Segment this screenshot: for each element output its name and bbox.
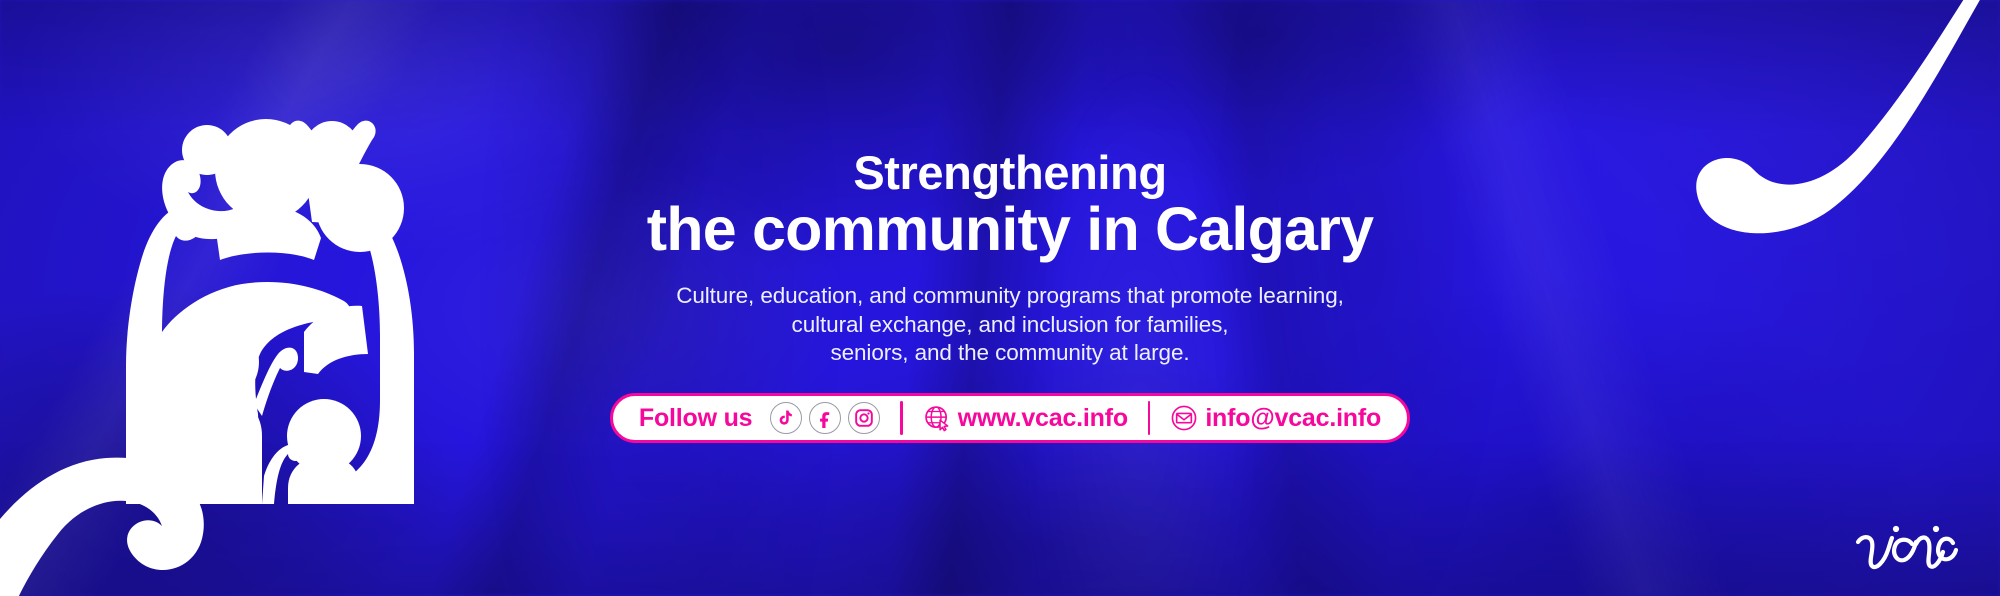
- instagram-glyph: [854, 408, 874, 428]
- headline-line-2: the community in Calgary: [560, 200, 1460, 260]
- headline-line-1: Strengthening: [560, 150, 1460, 196]
- email-link[interactable]: info@vcac.info: [1170, 404, 1381, 433]
- subtitle-line-2: cultural exchange, and inclusion for fam…: [560, 311, 1460, 340]
- website-link[interactable]: www.vcac.info: [923, 404, 1128, 433]
- globe-glyph: [923, 404, 951, 432]
- social-icons-group: [770, 402, 880, 434]
- facebook-glyph: [815, 408, 835, 428]
- facebook-icon[interactable]: [809, 402, 841, 434]
- globe-icon: [923, 404, 951, 432]
- envelope-icon: [1170, 404, 1198, 432]
- envelope-glyph: [1170, 404, 1198, 432]
- white-curved-swoosh-icon: [1650, 0, 2000, 288]
- banner-content: Strengthening the community in Calgary C…: [560, 150, 1460, 443]
- promotional-banner: Strengthening the community in Calgary C…: [0, 0, 2000, 596]
- divider-1: [900, 401, 902, 435]
- instagram-icon[interactable]: [848, 402, 880, 434]
- divider-2: [1148, 401, 1150, 435]
- website-label: www.vcac.info: [958, 404, 1128, 433]
- vcac-wordmark-icon: [1850, 516, 1958, 578]
- follow-us-label: Follow us: [639, 404, 752, 433]
- subtitle: Culture, education, and community progra…: [560, 282, 1460, 368]
- tiktok-glyph: [776, 408, 796, 428]
- community-people-logo-icon: [66, 104, 446, 504]
- email-label: info@vcac.info: [1205, 404, 1381, 433]
- page-title: Strengthening the community in Calgary: [560, 150, 1460, 260]
- subtitle-line-3: seniors, and the community at large.: [560, 339, 1460, 368]
- subtitle-line-1: Culture, education, and community progra…: [560, 282, 1460, 311]
- tiktok-icon[interactable]: [770, 402, 802, 434]
- contact-pill: Follow us: [610, 393, 1410, 443]
